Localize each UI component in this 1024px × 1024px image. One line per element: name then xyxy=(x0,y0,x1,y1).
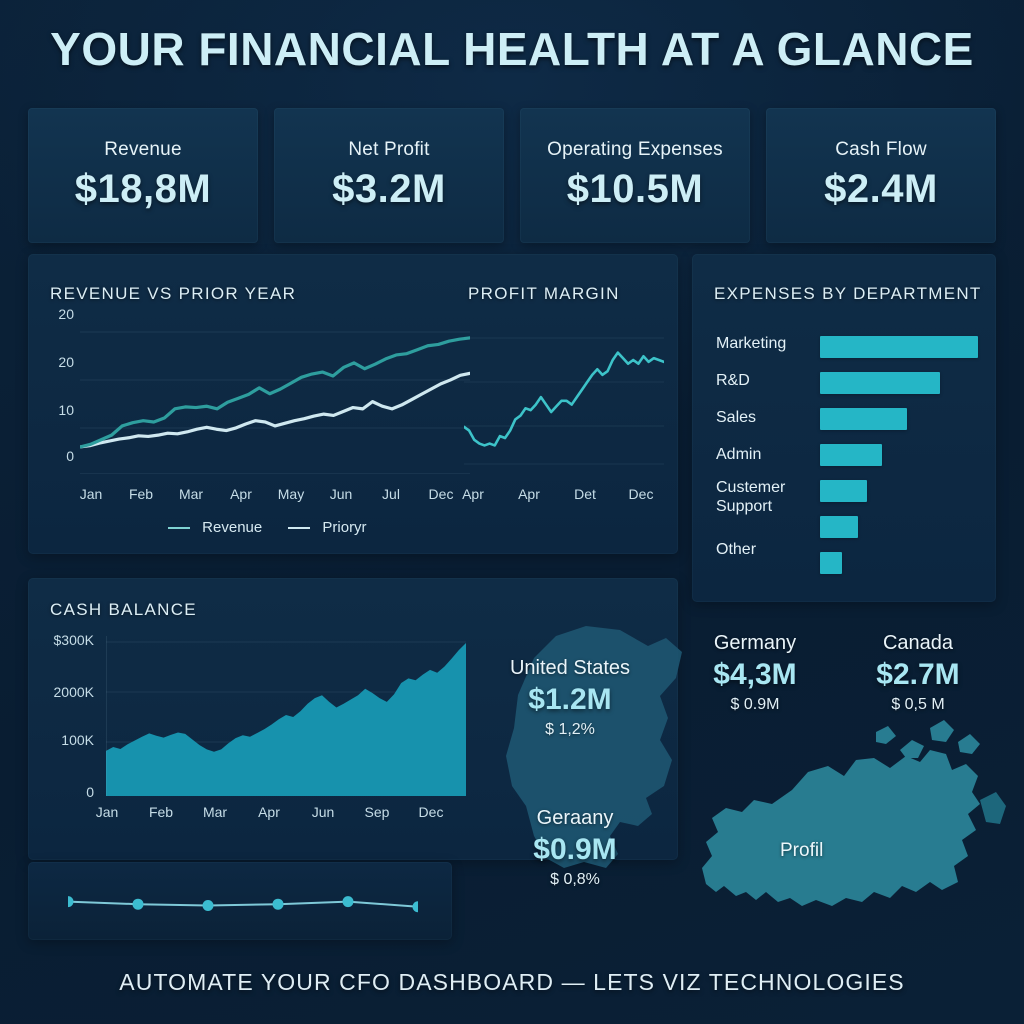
x-tick-label: Feb xyxy=(116,486,166,502)
map-shape-canada xyxy=(702,720,1006,906)
expense-category-label: Custemer Support xyxy=(716,478,816,516)
geo-section: United States$1.2M$ 1,2%Germany$4,3M$ 0.… xyxy=(460,600,1012,948)
expense-bar[interactable] xyxy=(820,516,858,538)
revenue-line-chart[interactable] xyxy=(80,324,470,474)
geo-region-sub: $ 1,2% xyxy=(470,719,670,741)
legend-item-revenue[interactable]: Revenue xyxy=(168,519,262,536)
y-tick-label: 100K xyxy=(28,732,94,748)
geo-region-name: Geraany xyxy=(480,805,670,831)
x-tick-label: Apr xyxy=(448,486,498,502)
geo-region-canada[interactable]: Canada$2.7M$ 0,5 M xyxy=(828,630,1008,716)
profit-margin-chart[interactable] xyxy=(464,324,664,474)
panel-expenses-by-department: EXPENSES BY DEPARTMENT MarketingR&DSales… xyxy=(692,254,996,602)
kpi-value: $10.5M xyxy=(567,167,703,212)
x-tick-label: Jan xyxy=(80,804,134,820)
geo-region-value: $2.7M xyxy=(828,656,1008,694)
x-tick-label: Sep xyxy=(350,804,404,820)
x-tick-label: Dec xyxy=(616,486,666,502)
dashboard-root: YOUR FINANCIAL HEALTH AT A GLANCE Revenu… xyxy=(0,0,1024,1024)
cash-balance-area-chart[interactable] xyxy=(106,636,466,796)
geo-region-name: United States xyxy=(470,655,670,681)
geo-region-germany[interactable]: Germany$4,3M$ 0.9M xyxy=(660,630,850,716)
expense-category-label: Other xyxy=(716,540,816,559)
geo-region-name: Canada xyxy=(828,630,1008,656)
chart-title-revenue: REVENUE VS PRIOR YEAR xyxy=(50,284,296,304)
y-tick-label: 20 xyxy=(36,354,74,370)
geo-region-name: Germany xyxy=(660,630,850,656)
kpi-value: $2.4M xyxy=(824,167,938,212)
legend-swatch-revenue xyxy=(168,527,190,529)
x-tick-label: Jun xyxy=(316,486,366,502)
x-tick-label: Mar xyxy=(188,804,242,820)
page-title: YOUR FINANCIAL HEALTH AT A GLANCE xyxy=(0,22,1024,76)
y-tick-label: $300K xyxy=(28,632,94,648)
legend-label-revenue: Revenue xyxy=(202,519,262,536)
geo-region-geraany[interactable]: Geraany$0.9M$ 0,8% xyxy=(480,805,670,891)
footer-text: AUTOMATE YOUR CFO DASHBOARD — LETS VIZ T… xyxy=(0,969,1024,996)
x-tick-label: Apr xyxy=(242,804,296,820)
chart-title-expenses: EXPENSES BY DEPARTMENT xyxy=(714,284,982,304)
kpi-card-net-profit[interactable]: Net Profit $3.2M xyxy=(274,108,504,243)
x-tick-label: Dec xyxy=(404,804,458,820)
panel-sparkline xyxy=(28,862,452,940)
expense-bar[interactable] xyxy=(820,552,842,574)
kpi-card-revenue[interactable]: Revenue $18,8M xyxy=(28,108,258,243)
x-tick-label: Apr xyxy=(504,486,554,502)
legend-swatch-prioryr xyxy=(288,527,310,529)
geo-region-united-states[interactable]: United States$1.2M$ 1,2% xyxy=(470,655,670,741)
expense-category-label: Admin xyxy=(716,445,816,464)
kpi-label: Revenue xyxy=(104,139,181,161)
x-tick-label: Jan xyxy=(66,486,116,502)
expense-bar[interactable] xyxy=(820,480,867,502)
y-tick-label: 20 xyxy=(36,306,74,322)
expense-category-label: R&D xyxy=(716,371,816,390)
kpi-card-row: Revenue $18,8M Net Profit $3.2M Operatin… xyxy=(28,108,996,243)
geo-region-value: $1.2M xyxy=(470,681,670,719)
expense-bar[interactable] xyxy=(820,444,882,466)
expense-category-label: Marketing xyxy=(716,334,816,353)
panel-revenue-and-margin: REVENUE VS PRIOR YEAR PROFIT MARGIN 2020… xyxy=(28,254,678,554)
kpi-label: Operating Expenses xyxy=(547,139,723,161)
y-tick-label: 0 xyxy=(28,784,94,800)
geo-region-sub: $ 0,8% xyxy=(480,869,670,891)
chart-title-profit-margin: PROFIT MARGIN xyxy=(468,284,620,304)
x-tick-label: May xyxy=(266,486,316,502)
sparkline-chart[interactable] xyxy=(68,878,418,924)
expense-bar[interactable] xyxy=(820,372,940,394)
geo-region-value: $0.9M xyxy=(480,831,670,869)
kpi-value: $3.2M xyxy=(332,167,446,212)
expense-bar[interactable] xyxy=(820,336,978,358)
expense-bar[interactable] xyxy=(820,408,907,430)
geo-region-sub: $ 0,5 M xyxy=(828,694,1008,716)
y-tick-label: 10 xyxy=(36,402,74,418)
x-tick-label: Feb xyxy=(134,804,188,820)
legend-label-prioryr: Prioryr xyxy=(322,519,366,536)
x-tick-label: Mar xyxy=(166,486,216,502)
expense-category-label: Sales xyxy=(716,408,816,427)
x-tick-label: Det xyxy=(560,486,610,502)
geo-region-sub: $ 0.9M xyxy=(660,694,850,716)
geo-region-value: $4,3M xyxy=(660,656,850,694)
y-tick-label: 2000K xyxy=(28,684,94,700)
x-tick-label: Jun xyxy=(296,804,350,820)
kpi-card-operating-expenses[interactable]: Operating Expenses $10.5M xyxy=(520,108,750,243)
kpi-label: Net Profit xyxy=(348,139,429,161)
x-tick-label: Jul xyxy=(366,486,416,502)
x-tick-label: Apr xyxy=(216,486,266,502)
kpi-card-cash-flow[interactable]: Cash Flow $2.4M xyxy=(766,108,996,243)
chart-title-cash-balance: CASH BALANCE xyxy=(50,600,197,620)
kpi-value: $18,8M xyxy=(75,167,211,212)
legend-item-prioryr[interactable]: Prioryr xyxy=(288,519,366,536)
kpi-label: Cash Flow xyxy=(835,139,927,161)
map-region-tag: Profil xyxy=(780,840,823,862)
y-tick-label: 0 xyxy=(36,448,74,464)
revenue-legend: Revenue Prioryr xyxy=(168,519,367,536)
